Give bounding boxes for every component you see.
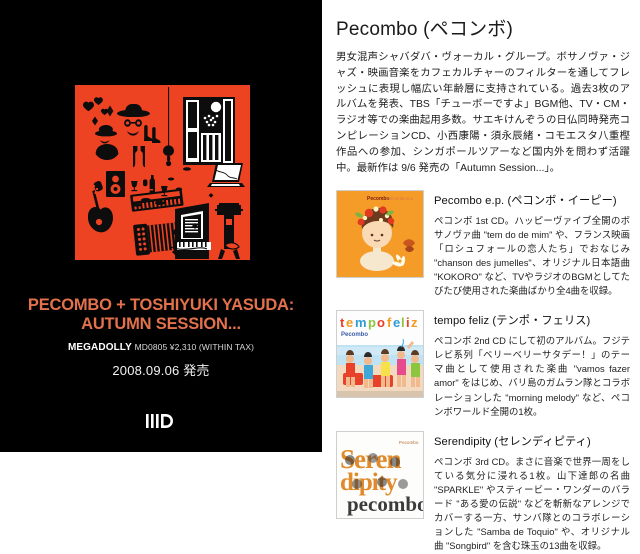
- svg-text:Pecombo: Pecombo: [399, 440, 419, 445]
- discography-item[interactable]: Pecombo Pecombo e.p.: [336, 190, 634, 299]
- release-description: ペコンボ 1st CD。ハッピーヴァイブ全開のボサノヴァ曲 "tem do de…: [434, 214, 634, 299]
- catalog-and-price: MD0805 ¥2,310 (WITHIN TAX): [135, 342, 254, 352]
- svg-text:o: o: [377, 315, 385, 330]
- release-title: Serendipity (セレンディピティ): [434, 433, 634, 449]
- svg-text:e: e: [346, 315, 353, 330]
- svg-text:f: f: [387, 315, 392, 330]
- main-album-cover: [75, 85, 250, 260]
- left-release-panel: PECOMBO + TOSHIYUKI YASUDA: AUTUMN SESSI…: [0, 0, 322, 452]
- release-text-block: tempo feliz (テンポ・フェリス) ペコンボ 2nd CD にして初の…: [434, 310, 634, 419]
- release-text-block: Pecombo e.p. (ペコンボ・イーピー) ペコンボ 1st CD。ハッピ…: [434, 190, 634, 299]
- release-date: 2008.09.06 発売: [0, 360, 322, 379]
- release-label-line: MEGADOLLY MD0805 ¥2,310 (WITHIN TAX): [0, 342, 322, 353]
- discography-item[interactable]: t e m p o f e l i z Pecombo: [336, 310, 634, 419]
- artist-biography: 男女混声シャバダバ・ヴォーカル・グループ。ボサノヴァ・ジャズ・映画音楽をカフェカ…: [336, 50, 634, 177]
- release-title: PECOMBO + TOSHIYUKI YASUDA: AUTUMN SESSI…: [0, 296, 322, 334]
- pecombo-ep-cover-thumbnail[interactable]: Pecombo Pecombo e.p.: [336, 190, 424, 278]
- megadolly-logo: [0, 413, 322, 434]
- svg-text:m: m: [355, 315, 367, 330]
- release-title: Pecombo e.p. (ペコンボ・イーピー): [434, 192, 634, 208]
- release-title: tempo feliz (テンポ・フェリス): [434, 312, 634, 328]
- svg-text:e: e: [393, 315, 400, 330]
- discography-item[interactable]: Pecombo Seren dipity pecombo: [336, 431, 634, 554]
- svg-text:Pecombo: Pecombo: [341, 332, 368, 338]
- right-info-panel: Pecombo (ペコンボ) 男女混声シャバダバ・ヴォーカル・グループ。ボサノヴ…: [322, 0, 640, 452]
- discography-list: Pecombo Pecombo e.p.: [336, 190, 634, 554]
- release-text-block: Serendipity (セレンディピティ) ペコンボ 3rd CD。まさに音楽…: [434, 431, 634, 554]
- record-label-name: MEGADOLLY: [68, 342, 132, 353]
- serendipity-cover-thumbnail[interactable]: Pecombo Seren dipity pecombo: [336, 431, 424, 519]
- release-description: ペコンボ 2nd CD にして初のアルバム。フジテレビ系列「ベリーベリーサタデー…: [434, 334, 634, 419]
- tempo-feliz-cover-thumbnail[interactable]: t e m p o f e l i z Pecombo: [336, 310, 424, 398]
- release-info-block: PECOMBO + TOSHIYUKI YASUDA: AUTUMN SESSI…: [0, 296, 322, 379]
- svg-text:t: t: [340, 315, 345, 330]
- svg-text:Pecombo e.p.: Pecombo e.p.: [387, 196, 414, 201]
- svg-text:z: z: [411, 315, 418, 330]
- release-title-line-2: AUTUMN SESSION...: [81, 315, 241, 333]
- release-title-line-1: PECOMBO + TOSHIYUKI YASUDA:: [28, 296, 294, 314]
- svg-text:pecombo: pecombo: [347, 492, 423, 516]
- artist-name-heading: Pecombo (ペコンボ): [336, 14, 634, 41]
- svg-text:i: i: [406, 315, 410, 330]
- album-artwork-illustration: [75, 85, 250, 260]
- release-description: ペコンボ 3rd CD。まさに音楽で世界一周をしている気分に浸れる1枚。山下達郎…: [434, 455, 634, 554]
- svg-text:l: l: [401, 315, 405, 330]
- svg-text:p: p: [368, 315, 376, 330]
- page-root: PECOMBO + TOSHIYUKI YASUDA: AUTUMN SESSI…: [0, 0, 640, 452]
